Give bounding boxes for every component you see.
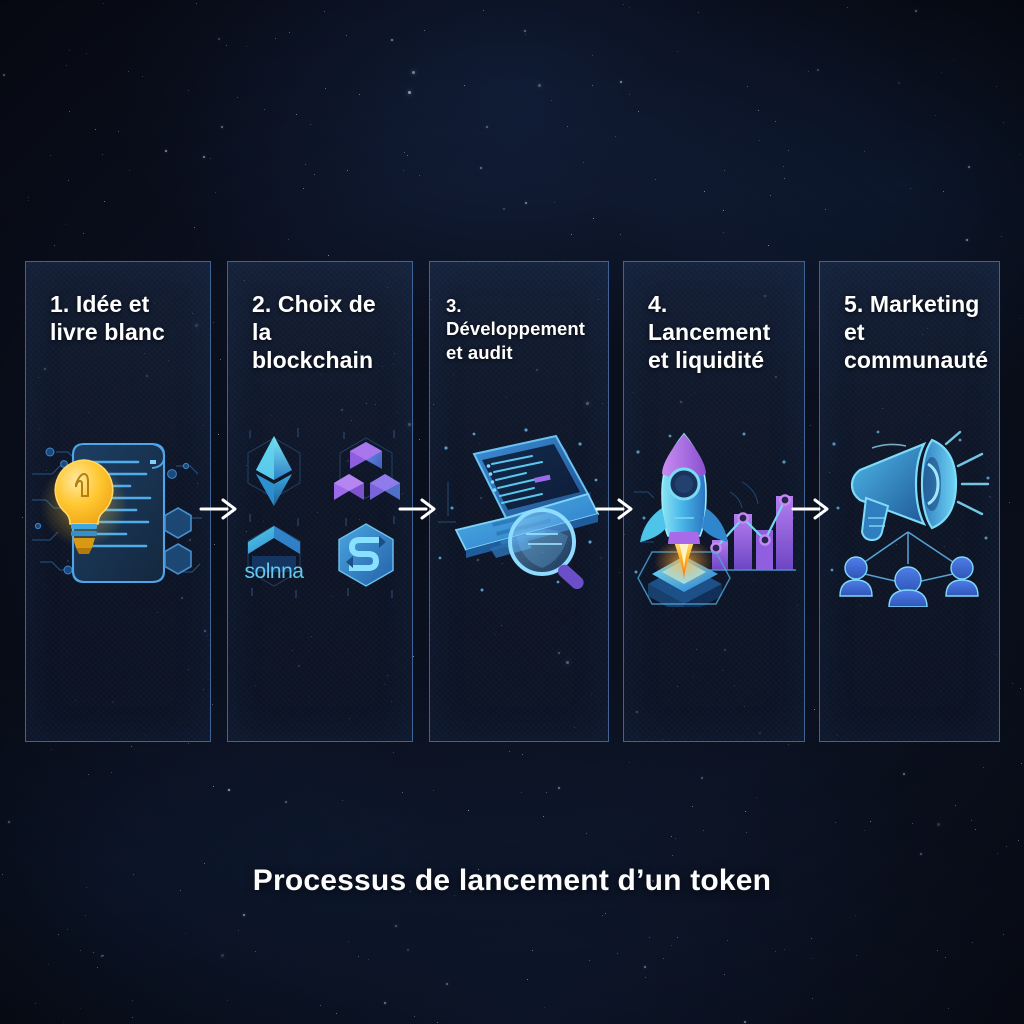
step-card-4[interactable]: 4. Lancement et liquidité (623, 261, 805, 742)
arrow-step3-to-step4 (593, 494, 637, 524)
rocket-launch-chart-icon (624, 422, 804, 607)
arrow-step2-to-step3 (396, 494, 440, 524)
infographic-caption: Processus de lancement d’un token (0, 864, 1024, 898)
step-card-1[interactable]: 1. Idée et livre blanc (25, 261, 211, 742)
step-title-5: 5. Marketing et communauté (844, 290, 985, 374)
solana-logo-label: solnna (245, 560, 305, 583)
step-title-4: 4. Lancement et liquidité (648, 290, 790, 374)
step-card-2[interactable]: 2. Choix de la blockchain (227, 261, 413, 742)
blockchain-logos-icon: solnna (228, 422, 412, 607)
arrow-step1-to-step2 (197, 494, 241, 524)
step-card-5[interactable]: 5. Marketing et communauté (819, 261, 1000, 742)
lightbulb-whitepaper-icon (26, 422, 210, 607)
megaphone-community-icon (820, 422, 999, 607)
step-title-2: 2. Choix de la blockchain (252, 290, 398, 374)
step-title-3: 3. Développement et audit (446, 294, 594, 364)
step-title-1: 1. Idée et livre blanc (50, 290, 196, 346)
laptop-code-audit-icon (430, 422, 608, 607)
step-card-3[interactable]: 3. Développement et audit (429, 261, 609, 742)
arrow-step4-to-step5 (789, 494, 833, 524)
